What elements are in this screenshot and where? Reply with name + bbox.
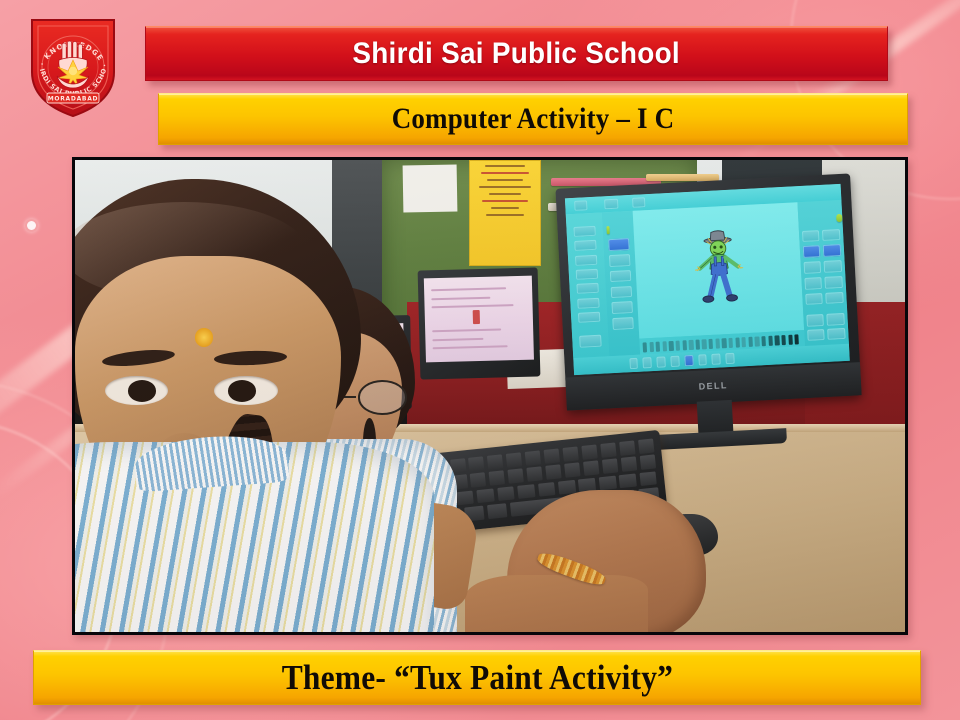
student-front [75,179,374,632]
student-forearm [465,575,648,632]
board-poster [469,160,540,266]
school-logo: FAITH · KNOWLEDGE · DUTY SHIRDI SAI PUBL… [22,10,124,122]
tuxpaint-stamps-panel[interactable] [798,200,850,346]
monitor-brand-label: DELL [699,381,729,393]
activity-photo-frame: DELL [72,157,908,635]
school-title-banner: Shirdi Sai Public School [145,26,888,81]
activity-photo: DELL [75,160,905,632]
tuxpaint-canvas[interactable] [633,202,805,338]
bindi [195,328,213,346]
tuxpaint-tools-label [607,227,610,235]
svg-text:MORADABAD: MORADABAD [48,95,98,102]
tux-paint-screen [566,184,851,376]
school-title-text: Shirdi Sai Public School [353,37,681,71]
activity-title-text: Computer Activity – I C [392,102,675,136]
background-dot-marker [27,221,36,230]
theme-text: Theme- “Tux Paint Activity” [281,658,672,698]
tuxpaint-stamps-label [836,214,843,222]
scarecrow-drawing [690,223,749,320]
board-paper [402,164,457,212]
dell-monitor: DELL [556,174,862,411]
activity-title-banner: Computer Activity – I C [158,93,908,145]
theme-banner: Theme- “Tux Paint Activity” [33,650,921,705]
